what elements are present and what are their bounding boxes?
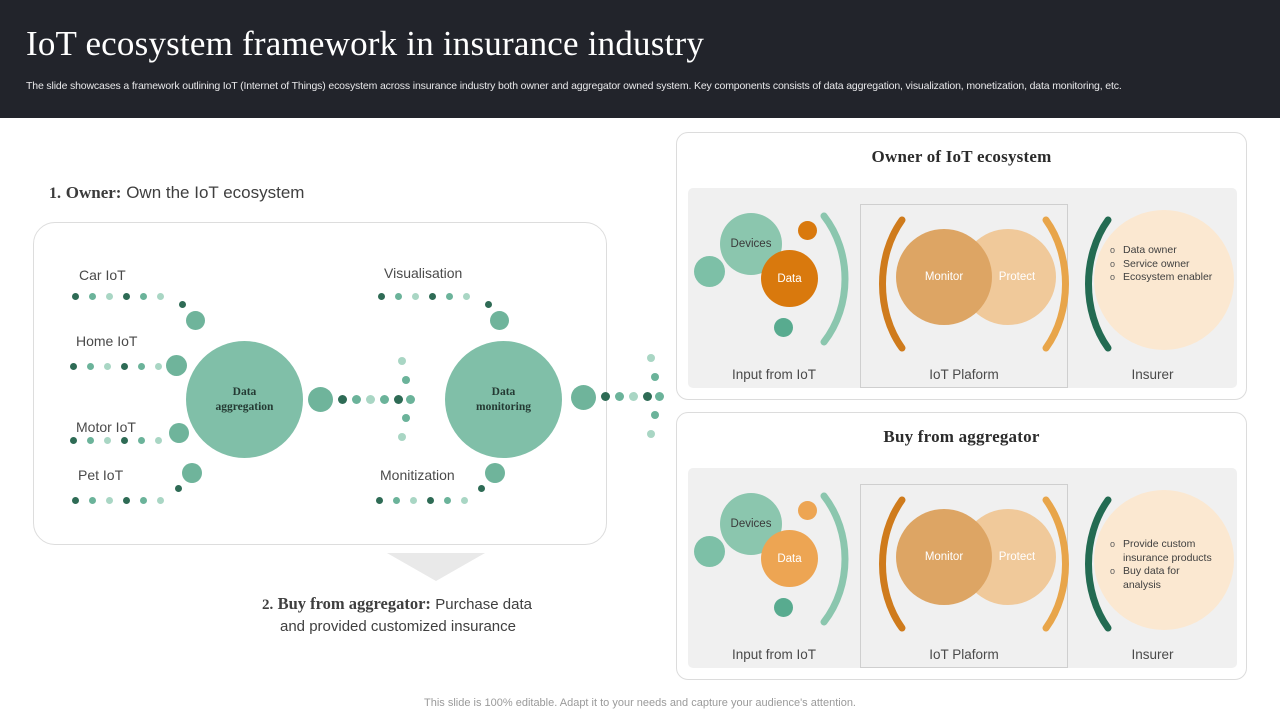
flow-dot — [378, 293, 385, 300]
flow-dot — [463, 293, 470, 300]
flow-dot — [87, 363, 94, 370]
flow-dot — [366, 395, 375, 404]
step-1-number: 1. — [49, 185, 61, 202]
flow-dot — [412, 293, 419, 300]
zone-label-0: Input from IoT — [688, 367, 860, 382]
flow-dot — [647, 354, 655, 362]
flow-dot — [89, 293, 96, 300]
flow-dot — [87, 437, 94, 444]
flow-dot — [155, 437, 162, 444]
flow-dot — [651, 373, 659, 381]
flow-dot — [394, 395, 403, 404]
green-small-dot-bottom — [774, 318, 793, 337]
step-1-lead: Owner: — [66, 183, 122, 202]
green-small-dot-bottom — [774, 598, 793, 617]
flow-node-large — [166, 355, 187, 376]
step-2-number: 2. — [262, 597, 273, 613]
flow-label-input-1: Home IoT — [76, 333, 137, 349]
zone-label-1: IoT Plaform — [860, 647, 1068, 662]
insurer-benefit-item: Buy data for analysis — [1110, 565, 1218, 592]
arc-input-green — [808, 210, 860, 348]
header-bar: IoT ecosystem framework in insurance ind… — [0, 0, 1280, 118]
flow-dot — [398, 357, 406, 365]
flow-dot — [179, 301, 186, 308]
hub-data-aggregation-line1: Data — [233, 385, 257, 400]
card-owner-title: Owner of IoT ecosystem — [677, 147, 1246, 167]
devices-small-dot-left — [694, 256, 725, 287]
step-1-rest: Own the IoT ecosystem — [126, 183, 304, 202]
flow-dot — [395, 293, 402, 300]
down-arrow-icon — [387, 553, 485, 581]
flow-dot — [89, 497, 96, 504]
card-owner-panel: DevicesDataMonitorProtectData ownerServi… — [688, 188, 1237, 388]
iot-flow-diagram: Car IoTHome IoTMotor IoTPet IoTDataaggre… — [33, 222, 607, 545]
hub-data-aggregation: Dataaggregation — [186, 341, 303, 458]
card-owner-of-iot-ecosystem: Owner of IoT ecosystem DevicesDataMonito… — [676, 132, 1247, 400]
page-title: IoT ecosystem framework in insurance ind… — [26, 24, 704, 64]
flow-node-large — [485, 463, 505, 483]
flow-dot — [380, 395, 389, 404]
insurer-benefit-item: Ecosystem enabler — [1110, 271, 1218, 285]
hub-data-monitoring-line2: monitoring — [476, 400, 531, 415]
flow-dot — [106, 497, 113, 504]
flow-dot — [72, 497, 79, 504]
flow-dot — [121, 437, 128, 444]
flow-dot — [140, 293, 147, 300]
flow-node-large — [182, 463, 202, 483]
flow-label-input-2: Motor IoT — [76, 419, 136, 435]
card-aggregator-panel: DevicesDataMonitorProtectProvide custom … — [688, 468, 1237, 668]
flow-dot — [643, 392, 652, 401]
step-2-heading: 2. Buy from aggregator: Purchase data an… — [262, 593, 622, 637]
flow-node — [485, 301, 492, 308]
flow-node-large — [186, 311, 205, 330]
flow-node-large — [490, 311, 509, 330]
flow-dot — [123, 293, 130, 300]
flow-dot — [393, 497, 400, 504]
flow-node — [478, 485, 485, 492]
flow-dot — [104, 363, 111, 370]
zone-label-2: Insurer — [1068, 647, 1237, 662]
flow-dot — [406, 395, 415, 404]
flow-dot — [104, 437, 111, 444]
flow-dot — [106, 293, 113, 300]
monitor-circle: Monitor — [896, 229, 992, 325]
step-1-heading: 1. Owner: Own the IoT ecosystem — [49, 183, 304, 203]
flow-dot — [402, 414, 410, 422]
flow-node-large — [308, 387, 333, 412]
flow-dot — [121, 363, 128, 370]
flow-dot — [70, 437, 77, 444]
hub-data-aggregation-line2: aggregation — [216, 400, 274, 415]
flow-dot — [123, 497, 130, 504]
insurer-benefit-list: Data ownerService ownerEcosystem enabler — [1110, 244, 1218, 285]
flow-dot — [655, 392, 664, 401]
flow-dot — [376, 497, 383, 504]
flow-dot — [647, 430, 655, 438]
hub-data-monitoring-line1: Data — [492, 385, 516, 400]
flow-dot — [157, 497, 164, 504]
flow-dot — [140, 497, 147, 504]
insurer-benefit-item: Service owner — [1110, 258, 1218, 272]
insurer-benefit-item: Data owner — [1110, 244, 1218, 258]
flow-dot — [402, 376, 410, 384]
flow-dot — [615, 392, 624, 401]
flow-dot — [629, 392, 638, 401]
zone-label-2: Insurer — [1068, 367, 1237, 382]
flow-dot — [398, 433, 406, 441]
page-subtitle: The slide showcases a framework outlinin… — [26, 79, 1248, 94]
flow-dot — [352, 395, 361, 404]
devices-small-dot-left — [694, 536, 725, 567]
zone-label-0: Input from IoT — [688, 647, 860, 662]
flow-dot — [461, 497, 468, 504]
flow-dot — [338, 395, 347, 404]
hub-data-monitoring: Datamonitoring — [445, 341, 562, 458]
flow-dot — [155, 363, 162, 370]
zone-label-1: IoT Plaform — [860, 367, 1068, 382]
flow-dot — [157, 293, 164, 300]
insurer-benefit-list: Provide custom insurance productsBuy dat… — [1110, 538, 1218, 592]
flow-dot — [651, 411, 659, 419]
flow-dot — [138, 363, 145, 370]
step-2-lead: Buy from aggregator: — [278, 594, 431, 613]
step-2-line2: and provided customized insurance — [262, 616, 622, 637]
flow-label-output-0: Visualisation — [384, 265, 462, 281]
flow-node-large — [169, 423, 189, 443]
card-buy-from-aggregator: Buy from aggregator DevicesDataMonitorPr… — [676, 412, 1247, 680]
flow-dot — [444, 497, 451, 504]
flow-dot — [410, 497, 417, 504]
flow-dot — [138, 437, 145, 444]
flow-dot — [70, 363, 77, 370]
flow-dot — [427, 497, 434, 504]
flow-dot — [446, 293, 453, 300]
flow-dot — [429, 293, 436, 300]
insurer-benefit-item: Provide custom insurance products — [1110, 538, 1218, 565]
footer-note: This slide is 100% editable. Adapt it to… — [0, 697, 1280, 709]
card-aggregator-title: Buy from aggregator — [677, 427, 1246, 447]
monitor-circle: Monitor — [896, 509, 992, 605]
flow-label-output-1: Monitization — [380, 467, 455, 483]
arc-input-green — [808, 490, 860, 628]
flow-label-input-3: Pet IoT — [78, 467, 123, 483]
flow-dot — [175, 485, 182, 492]
step-2-rest: Purchase data — [435, 596, 532, 613]
flow-dot — [72, 293, 79, 300]
flow-label-input-0: Car IoT — [79, 267, 126, 283]
